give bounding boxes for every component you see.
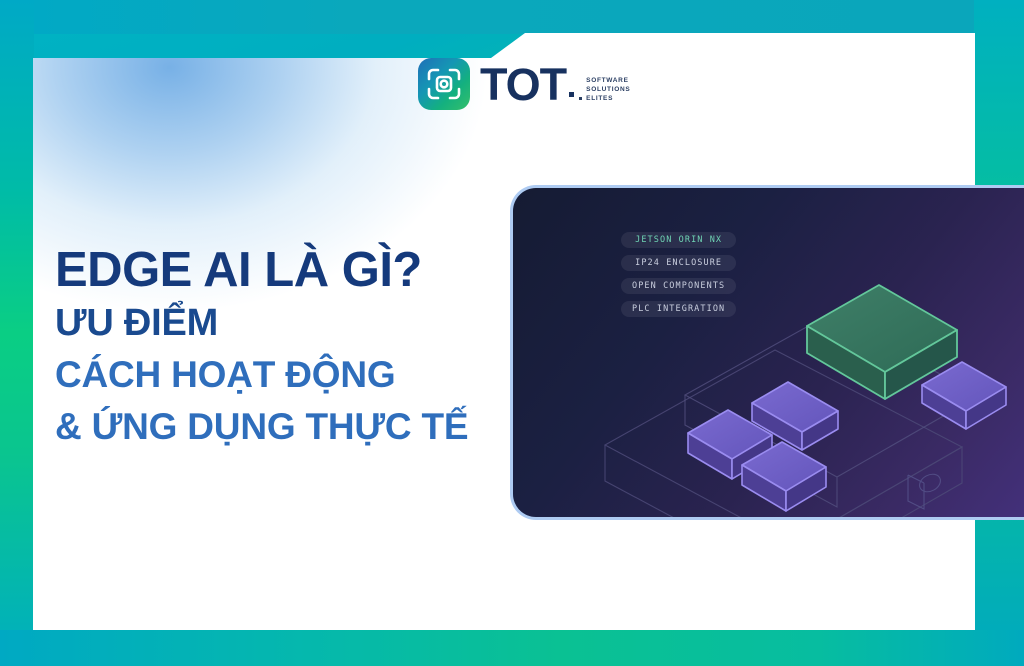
border-gradient-bottom [0,630,1024,666]
tagline-line-3: ELITES [586,94,630,103]
headline-line-1: EDGE AI LÀ GÌ? [55,243,468,297]
tot-scan-logo-icon [418,58,470,110]
tagline-line-2: SOLUTIONS [586,85,630,94]
headline-line-3: CÁCH HOẠT ĐỘNG [55,349,468,401]
spec-pill-jetson-orin-nx[interactable]: JETSON ORIN NX [621,232,736,248]
tagline-line-1: SOFTWARE [586,76,630,85]
brand-dot [569,92,574,97]
illustration-artwork: JETSON ORIN NX IP24 ENCLOSURE OPEN COMPO… [513,188,1024,517]
edge-ai-device-illustration-card: JETSON ORIN NX IP24 ENCLOSURE OPEN COMPO… [510,185,1024,520]
border-gradient-top [0,0,1024,34]
spec-pill-open-components[interactable]: OPEN COMPONENTS [621,278,736,294]
headline-line-2: ƯU ĐIỂM [55,297,468,349]
poster-canvas: TOT SOFTWARE SOLUTIONS ELITES EDGE AI LÀ… [0,0,1024,666]
spec-pill-plc-integration[interactable]: PLC INTEGRATION [621,301,736,317]
headline-line-4: & ỨNG DỤNG THỰC TẾ [55,401,468,453]
spec-pill-list: JETSON ORIN NX IP24 ENCLOSURE OPEN COMPO… [621,232,736,317]
brand-tagline: SOFTWARE SOLUTIONS ELITES [586,76,630,103]
headline-block: EDGE AI LÀ GÌ? ƯU ĐIỂM CÁCH HOẠT ĐỘNG & … [55,243,468,453]
brand-wordmark: TOT [480,62,566,107]
brand-logo[interactable]: TOT SOFTWARE SOLUTIONS ELITES [418,58,630,110]
border-gradient-left [0,0,34,666]
spec-pill-ip24-enclosure[interactable]: IP24 ENCLOSURE [621,255,736,271]
